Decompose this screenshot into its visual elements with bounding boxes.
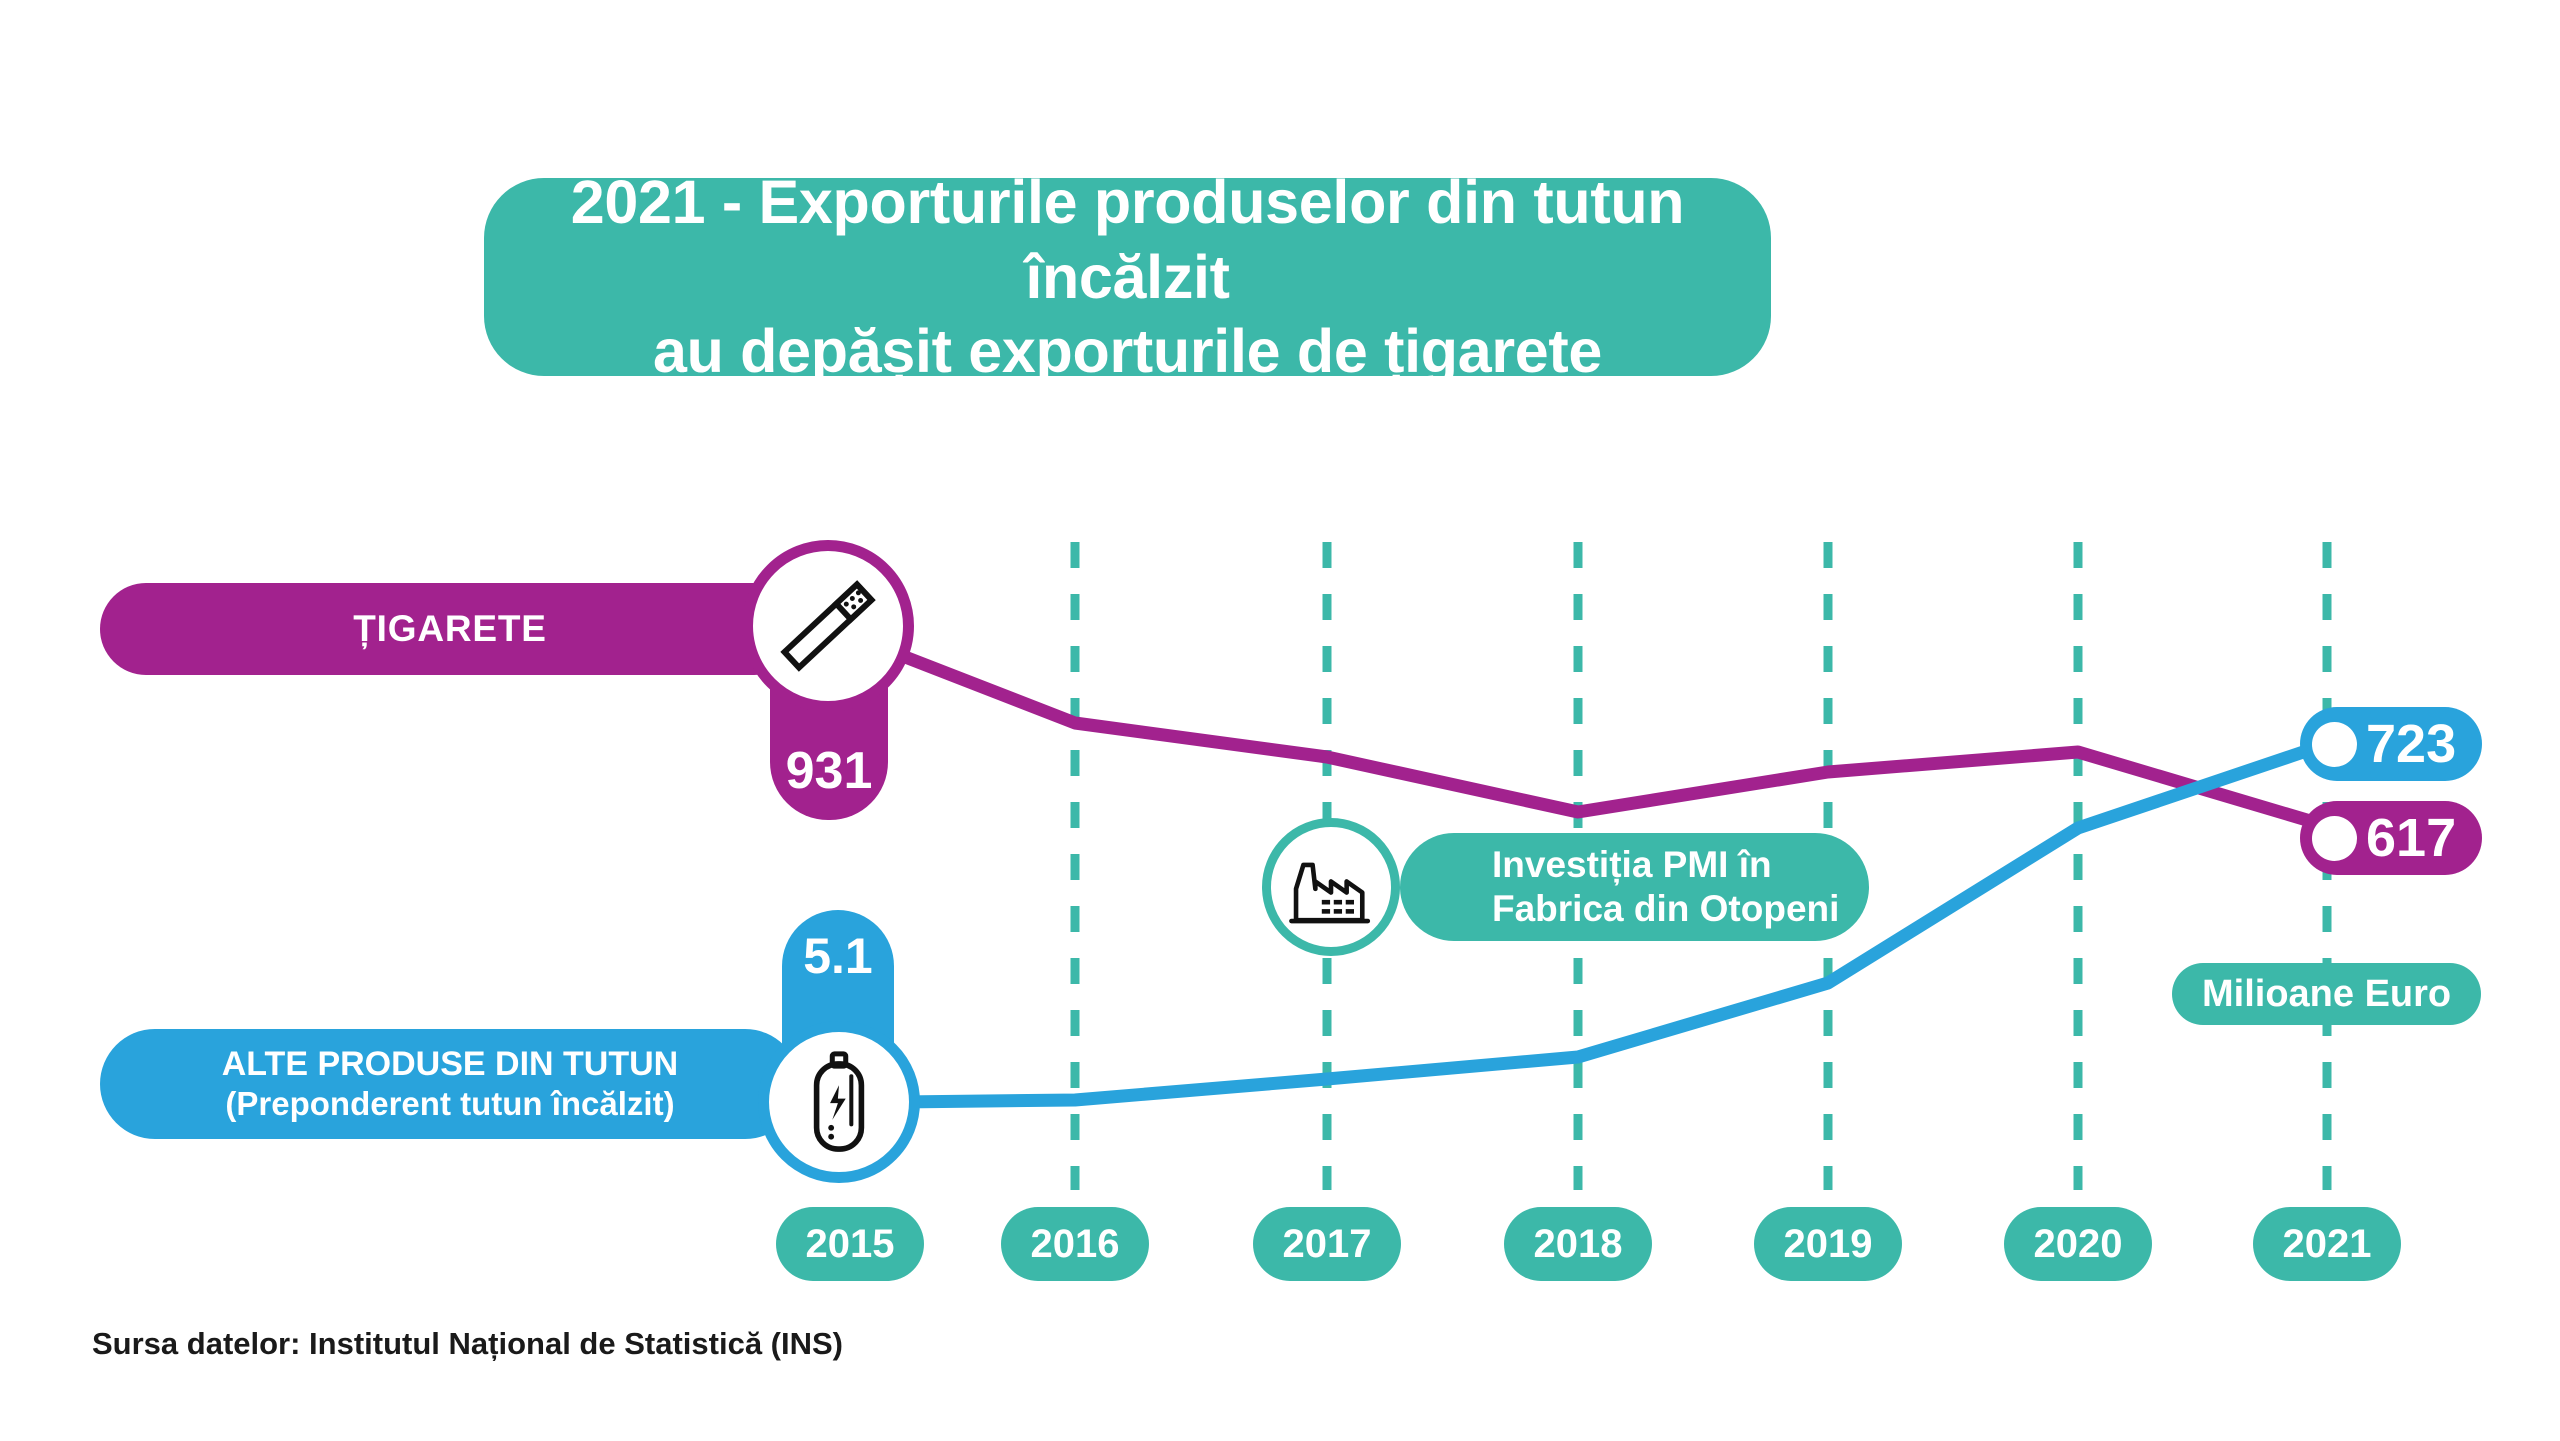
legend-label-cigarettes: ȚIGARETE — [353, 608, 546, 650]
cigarette-icon — [769, 567, 887, 685]
axis-year-2015-text: 2015 — [806, 1222, 895, 1267]
cigarette-medallion — [742, 540, 914, 712]
end-point-dot-cigarettes — [2312, 816, 2357, 861]
axis-year-2018-text: 2018 — [1534, 1222, 1623, 1267]
legend-item-other-tobacco[interactable]: ALTE PRODUSE DIN TUTUN (Preponderent tut… — [100, 1029, 800, 1139]
source-note: Sursa datelor: Institutul Național de St… — [92, 1326, 843, 1362]
end-value-cigarettes-text: 617 — [2366, 807, 2456, 869]
end-value-cigarettes: 617 — [2300, 801, 2482, 875]
heated-tobacco-device-icon — [783, 1046, 895, 1158]
axis-year-2020[interactable]: 2020 — [2004, 1207, 2152, 1281]
axis-year-2021[interactable]: 2021 — [2253, 1207, 2401, 1281]
axis-year-2020-text: 2020 — [2034, 1222, 2123, 1267]
factory-icon — [1285, 841, 1377, 933]
start-value-other-tobacco-text: 5.1 — [803, 927, 873, 985]
device-medallion — [758, 1021, 920, 1183]
end-point-dot-other-tobacco — [2312, 722, 2357, 767]
legend-item-cigarettes[interactable]: ȚIGARETE — [100, 583, 800, 675]
annotation-callout[interactable]: Investiția PMI în Fabrica din Otopeni — [1400, 833, 1869, 941]
legend-label-other-line1: ALTE PRODUSE DIN TUTUN — [222, 1045, 678, 1084]
axis-year-2017[interactable]: 2017 — [1253, 1207, 1401, 1281]
axis-year-2015[interactable]: 2015 — [776, 1207, 924, 1281]
unit-badge-text: Milioane Euro — [2202, 973, 2451, 1016]
annotation-line-1: Investiția PMI în — [1492, 844, 1772, 885]
infographic-canvas: 2021 - Exporturile produselor din tutun … — [0, 0, 2560, 1441]
end-value-other-tobacco: 723 — [2300, 707, 2482, 781]
end-value-other-tobacco-text: 723 — [2366, 713, 2456, 775]
annotation-line-2: Fabrica din Otopeni — [1492, 888, 1839, 929]
series-line-cigarettes — [900, 655, 2327, 826]
axis-year-2019[interactable]: 2019 — [1754, 1207, 1902, 1281]
axis-year-2019-text: 2019 — [1784, 1222, 1873, 1267]
start-value-cigarettes-text: 931 — [786, 741, 873, 801]
axis-year-2018[interactable]: 2018 — [1504, 1207, 1652, 1281]
factory-medallion — [1262, 818, 1400, 956]
axis-year-2021-text: 2021 — [2283, 1222, 2372, 1267]
unit-badge: Milioane Euro — [2172, 963, 2481, 1025]
axis-year-2016-text: 2016 — [1031, 1222, 1120, 1267]
axis-year-2016[interactable]: 2016 — [1001, 1207, 1149, 1281]
axis-year-2017-text: 2017 — [1283, 1222, 1372, 1267]
legend-label-other-line2: (Preponderent tutun încălzit) — [225, 1085, 674, 1123]
